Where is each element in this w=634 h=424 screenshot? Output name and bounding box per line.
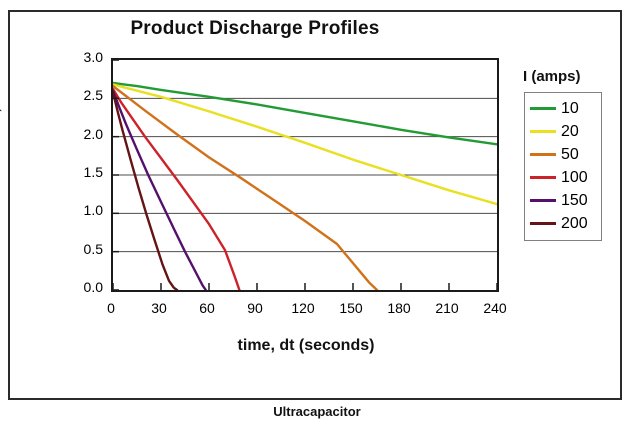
legend: 102050100150200 (524, 92, 602, 241)
legend-label: 100 (561, 170, 588, 186)
y-tick-label: 0.0 (63, 279, 103, 295)
y-axis-title: Volts, V (0, 94, 3, 148)
legend-item-200[interactable]: 200 (528, 212, 598, 235)
legend-item-50[interactable]: 50 (528, 143, 598, 166)
series-line-20 (113, 85, 497, 205)
x-tick-label: 180 (376, 300, 422, 316)
x-tick-label: 120 (280, 300, 326, 316)
x-tick-label: 0 (88, 300, 134, 316)
plot-area (111, 58, 499, 292)
y-tick-label: 1.5 (63, 164, 103, 180)
series-line-50 (113, 86, 377, 290)
legend-swatch-icon (530, 176, 556, 179)
legend-swatch-icon (530, 107, 556, 110)
x-tick-label: 210 (424, 300, 470, 316)
legend-label: 50 (561, 147, 579, 163)
legend-label: 20 (561, 124, 579, 140)
x-tick-label: 240 (472, 300, 518, 316)
legend-item-20[interactable]: 20 (528, 120, 598, 143)
legend-item-10[interactable]: 10 (528, 97, 598, 120)
x-tick-label: 150 (328, 300, 374, 316)
y-tick-label: 3.0 (63, 49, 103, 65)
legend-swatch-icon (530, 199, 556, 202)
y-tick-label: 2.0 (63, 126, 103, 142)
chart-title: Product Discharge Profiles (0, 18, 510, 40)
x-axis-title: time, dt (seconds) (111, 337, 501, 355)
y-tick-label: 0.5 (63, 241, 103, 257)
legend-title: I (amps) (523, 68, 581, 85)
plot-svg (113, 60, 497, 290)
legend-swatch-icon (530, 222, 556, 225)
legend-item-150[interactable]: 150 (528, 189, 598, 212)
x-tick-label: 60 (184, 300, 230, 316)
series-line-200 (113, 92, 177, 290)
legend-label: 150 (561, 193, 588, 209)
y-tick-label: 2.5 (63, 87, 103, 103)
chart-figure: Product Discharge Profiles Volts, V time… (0, 0, 634, 424)
x-tick-label: 90 (232, 300, 278, 316)
legend-swatch-icon (530, 130, 556, 133)
series-line-10 (113, 83, 497, 144)
legend-label: 10 (561, 101, 579, 117)
x-tick-label: 30 (136, 300, 182, 316)
legend-item-100[interactable]: 100 (528, 166, 598, 189)
figure-caption: Ultracapacitor (0, 404, 634, 419)
legend-swatch-icon (530, 153, 556, 156)
y-tick-label: 1.0 (63, 202, 103, 218)
series-line-100 (113, 89, 239, 290)
legend-label: 200 (561, 216, 588, 232)
